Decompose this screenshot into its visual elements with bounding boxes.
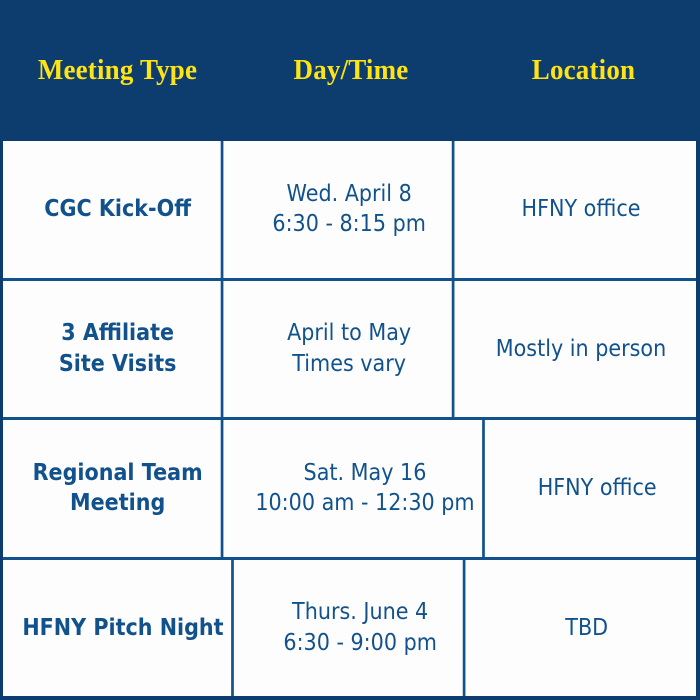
cell-day-time-line-1: Wed. April 8	[272, 179, 425, 209]
cell-day-time-line-1: Thurs. June 4	[283, 597, 436, 627]
table-row: HFNY Pitch Night Thurs. June 4 6:30 - 9:…	[3, 560, 696, 697]
cell-location-label: HFNY office	[522, 194, 641, 224]
cell-meeting-type-line-1: CGC Kick-Off	[44, 194, 191, 224]
cell-meeting-type: 3 Affiliate Site Visits	[15, 281, 224, 418]
cell-day-time-line-2: Times vary	[287, 349, 411, 379]
cell-meeting-type-line-1: Regional Team	[33, 458, 203, 488]
schedule-table: Meeting Type Day/Time Location CGC Kick-…	[0, 0, 700, 700]
cell-meeting-type-line-1: 3 Affiliate	[59, 318, 177, 348]
column-header-day-time: Day/Time	[243, 0, 459, 141]
table-header-row: Meeting Type Day/Time Location	[0, 0, 700, 141]
cell-meeting-type: Regional Team Meeting	[15, 420, 224, 557]
cell-location: Mostly in person	[478, 281, 685, 418]
cell-day-time: Sat. May 16 10:00 am - 12:30 pm	[248, 420, 484, 557]
cell-meeting-type-line-1: HFNY Pitch Night	[22, 613, 223, 643]
cell-location-label: HFNY office	[537, 473, 656, 503]
table-body: CGC Kick-Off Wed. April 8 6:30 - 8:15 pm…	[0, 141, 700, 700]
cell-location-label: Mostly in person	[496, 334, 666, 364]
cell-location: HFNY office	[508, 420, 687, 557]
cell-day-time: April to May Times vary	[247, 281, 455, 418]
cell-location: TBD	[488, 560, 685, 697]
cell-day-time: Wed. April 8 6:30 - 8:15 pm	[247, 141, 455, 278]
cell-meeting-type-line-2: Site Visits	[59, 349, 177, 379]
column-header-meeting-type-label: Meeting Type	[38, 54, 197, 87]
cell-day-time: Thurs. June 4 6:30 - 9:00 pm	[257, 560, 465, 697]
cell-day-time-line-1: April to May	[287, 318, 411, 348]
column-header-day-time-label: Day/Time	[294, 54, 409, 87]
table-row: 3 Affiliate Site Visits April to May Tim…	[3, 281, 696, 421]
cell-meeting-type: CGC Kick-Off	[15, 141, 224, 278]
column-header-location-label: Location	[532, 54, 635, 87]
cell-day-time-line-2: 6:30 - 9:00 pm	[283, 628, 436, 658]
column-header-location: Location	[475, 0, 692, 141]
cell-day-time-line-2: 6:30 - 8:15 pm	[272, 209, 425, 239]
cell-day-time-line-2: 10:00 am - 12:30 pm	[255, 488, 474, 518]
cell-day-time-line-1: Sat. May 16	[255, 458, 474, 488]
column-header-meeting-type: Meeting Type	[8, 0, 227, 141]
cell-meeting-type-line-2: Meeting	[33, 488, 203, 518]
cell-meeting-type: HFNY Pitch Night	[15, 560, 233, 697]
table-row: CGC Kick-Off Wed. April 8 6:30 - 8:15 pm…	[3, 141, 696, 281]
cell-location-label: TBD	[565, 613, 608, 643]
table-row: Regional Team Meeting Sat. May 16 10:00 …	[3, 420, 696, 560]
cell-location: HFNY office	[478, 141, 685, 278]
